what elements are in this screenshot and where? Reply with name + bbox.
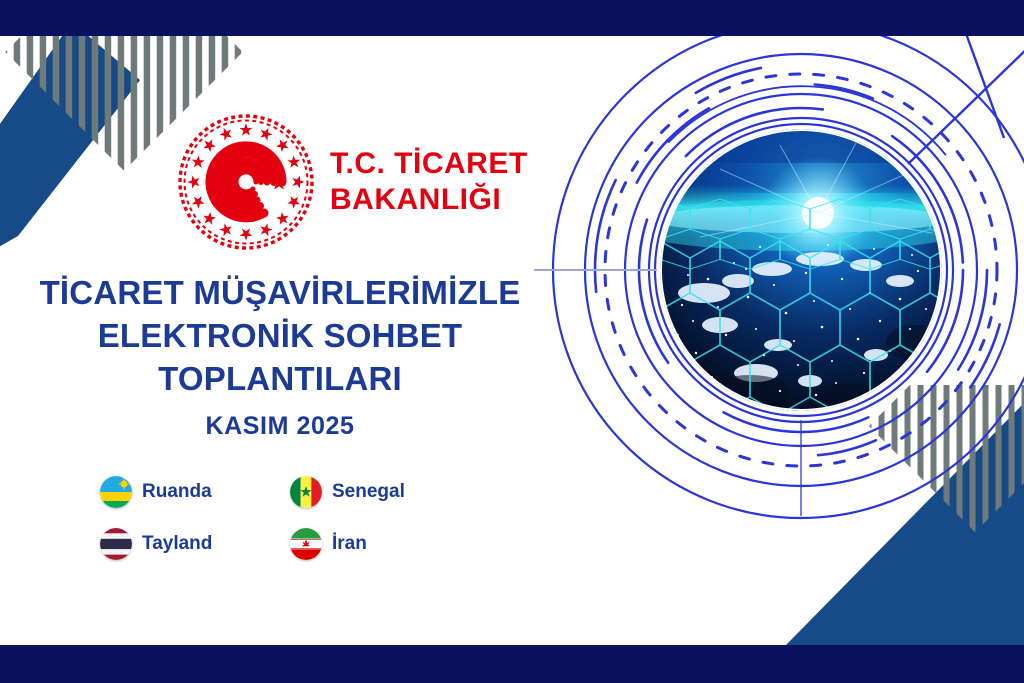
flag-senegal-icon [290,476,322,508]
ministry-logo-text: T.C. TİCARET BAKANLIĞI [330,149,528,215]
content-column: T.C. TİCARET BAKANLIĞI TİCARET MÜŞAVİRLE… [0,0,560,683]
slide-canvas: T.C. TİCARET BAKANLIĞI TİCARET MÜŞAVİRLE… [0,0,1024,683]
country-label: Tayland [142,533,212,555]
page-subtitle: KASIM 2025 [0,412,560,441]
list-item-ruanda[interactable]: Ruanda [100,466,290,518]
country-list: Ruanda [100,466,500,570]
logo-line-1: T.C. TİCARET [330,149,528,179]
page-title: TİCARET MÜŞAVİRLERİMİZLE ELEKTRONİK SOHB… [0,272,560,401]
title-line-2: ELEKTRONİK SOHBET [0,315,560,358]
list-item-tayland[interactable]: Tayland [100,518,290,570]
list-item-senegal[interactable]: Senegal [290,466,480,518]
title-line-1: TİCARET MÜŞAVİRLERİMİZLE [0,272,560,315]
flag-thailand-icon [100,528,132,560]
logo-line-2: BAKANLIĞI [330,185,528,215]
flag-rwanda-icon [100,476,132,508]
country-label: Ruanda [142,481,212,503]
ministry-logo-lockup: T.C. TİCARET BAKANLIĞI [176,112,528,252]
bottom-navy-bar [0,645,1024,683]
top-navy-bar [0,0,1024,36]
tc-ticaret-bakanligi-emblem [176,112,316,252]
title-line-3: TOPLANTILARI [0,358,560,401]
flag-iran-icon [290,528,322,560]
country-label: İran [332,533,367,555]
country-label: Senegal [332,481,405,503]
list-item-iran[interactable]: İran [290,518,480,570]
earth-at-night-hex-network-globe [660,129,942,411]
